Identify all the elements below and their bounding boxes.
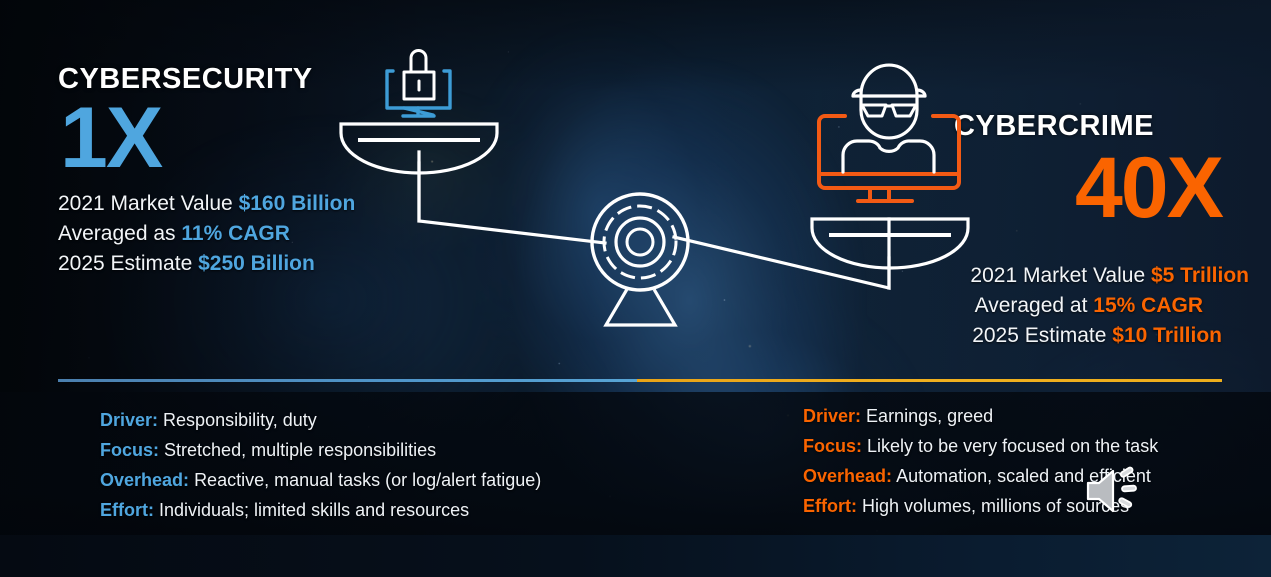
right-detail-key-1: Driver:: [803, 406, 861, 426]
left-detail-row-4: Effort: Individuals; limited skills and …: [100, 500, 469, 521]
left-detail-text-3: Reactive, manual tasks (or log/alert fat…: [194, 470, 541, 490]
right-detail-row-2: Focus: Likely to be very focused on the …: [803, 436, 1158, 457]
monitor-lock-icon: [387, 51, 450, 117]
infographic-slide: CYBERSECURITY 1X 2021 Market Value $160 …: [0, 0, 1271, 577]
left-detail-text-1: Responsibility, duty: [163, 410, 317, 430]
right-detail-text-1: Earnings, greed: [866, 406, 993, 426]
left-detail-key-1: Driver:: [100, 410, 158, 430]
right-detail-text-2: Likely to be very focused on the task: [867, 436, 1158, 456]
divider-right-gold: [637, 379, 1222, 382]
right-detail-key-2: Focus:: [803, 436, 862, 456]
right-detail-key-4: Effort:: [803, 496, 857, 516]
left-detail-key-3: Overhead:: [100, 470, 189, 490]
left-detail-text-2: Stretched, multiple responsibilities: [164, 440, 436, 460]
left-detail-key-2: Focus:: [100, 440, 159, 460]
left-detail-key-4: Effort:: [100, 500, 154, 520]
hacker-monitor-icon: [819, 65, 959, 201]
right-detail-row-1: Driver: Earnings, greed: [803, 406, 993, 427]
left-detail-row-3: Overhead: Reactive, manual tasks (or log…: [100, 470, 541, 491]
right-detail-key-3: Overhead:: [803, 466, 892, 486]
divider-left-blue: [58, 379, 638, 382]
left-detail-text-4: Individuals; limited skills and resource…: [159, 500, 469, 520]
speaker-audio-icon[interactable]: [1082, 462, 1148, 520]
left-detail-row-2: Focus: Stretched, multiple responsibilit…: [100, 440, 436, 461]
right-detail-row-4: Effort: High volumes, millions of source…: [803, 496, 1129, 517]
left-detail-row-1: Driver: Responsibility, duty: [100, 410, 317, 431]
